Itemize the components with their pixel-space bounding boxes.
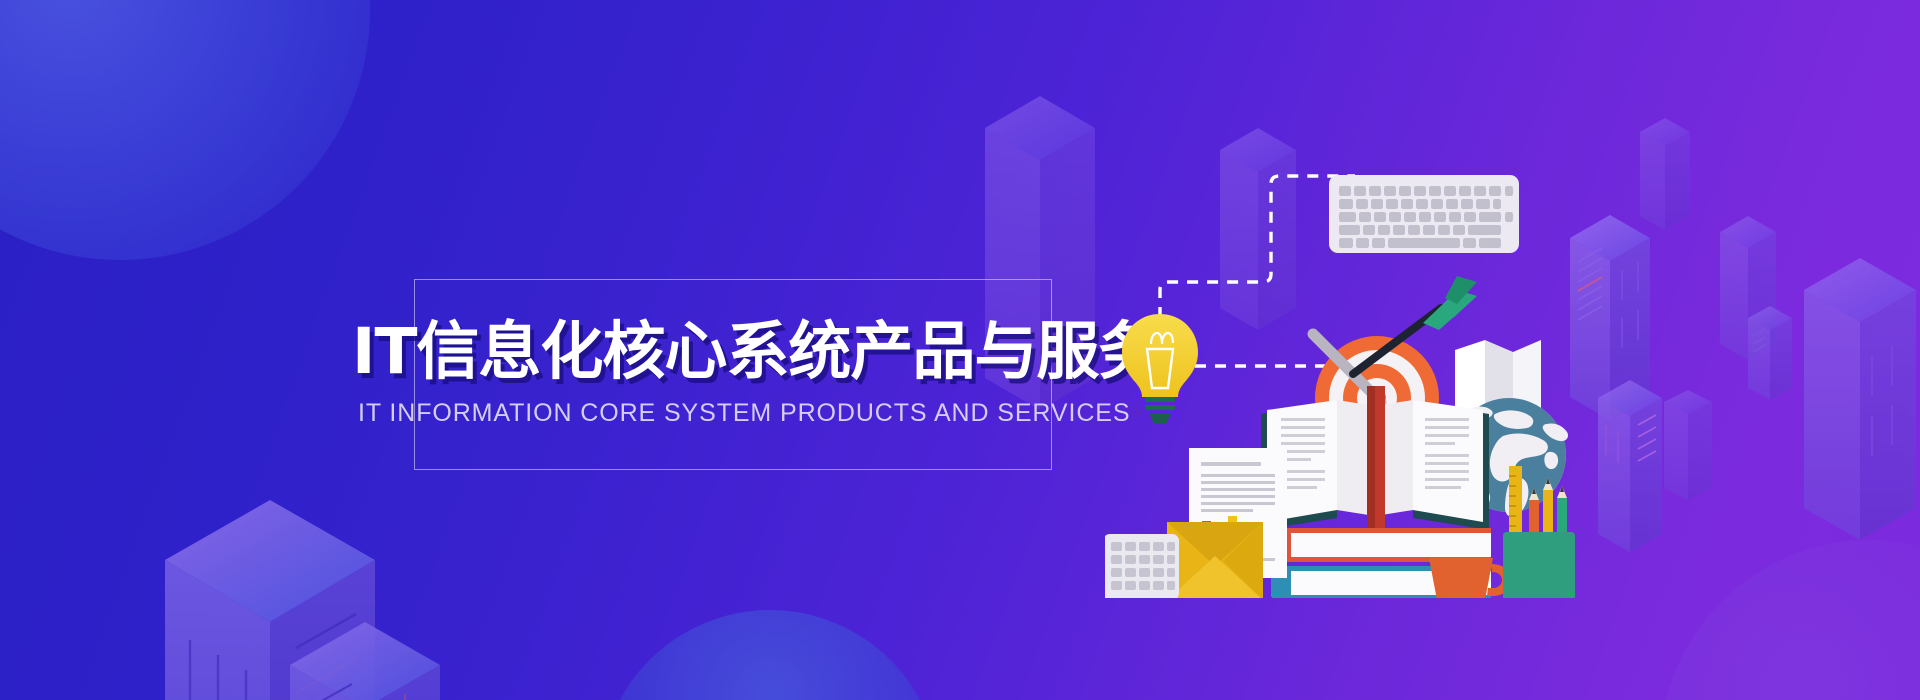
lightbulb-icon (1122, 314, 1198, 424)
headline-text-block: IT信息化核心系统产品与服务 IT INFORMATION CORE SYSTE… (352, 316, 1112, 428)
keyboard-bottom-icon (1105, 534, 1179, 598)
page-subtitle: IT INFORMATION CORE SYSTEM PRODUCTS AND … (358, 398, 1112, 428)
hero-illustration (1105, 118, 1585, 598)
page-title: IT信息化核心系统产品与服务 (352, 316, 1112, 388)
keyboard-top-icon (1329, 175, 1519, 253)
coffee-cup-icon (1429, 558, 1511, 598)
envelope-document-icon (1167, 448, 1287, 598)
hero-banner: IT信息化核心系统产品与服务 IT INFORMATION CORE SYSTE… (0, 0, 1920, 700)
